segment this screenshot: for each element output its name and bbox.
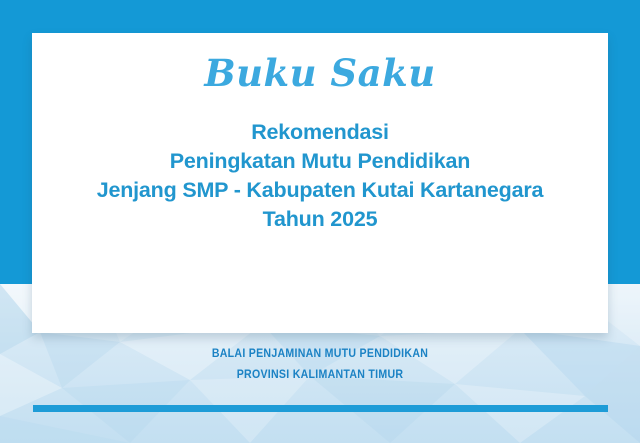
cover-page: Buku Saku Rekomendasi Peningkatan Mutu P… (0, 0, 640, 443)
footer-line-institution: BALAI PENJAMINAN MUTU PENDIDIKAN (26, 344, 615, 365)
bottom-accent-bar (33, 405, 608, 412)
footer-line-province: PROVINSI KALIMANTAN TIMUR (26, 365, 615, 386)
headline-line-1: Rekomendasi (32, 118, 608, 147)
headline-line-3: Jenjang SMP - Kabupaten Kutai Kartanegar… (32, 176, 608, 205)
script-title: Buku Saku (32, 55, 608, 92)
white-content-card: Buku Saku Rekomendasi Peningkatan Mutu P… (32, 33, 608, 333)
headline-line-2: Peningkatan Mutu Pendidikan (32, 147, 608, 176)
headline-line-4: Tahun 2025 (32, 205, 608, 234)
headline-block: Rekomendasi Peningkatan Mutu Pendidikan … (32, 118, 608, 234)
footer-block: BALAI PENJAMINAN MUTU PENDIDIKAN PROVINS… (0, 344, 640, 386)
